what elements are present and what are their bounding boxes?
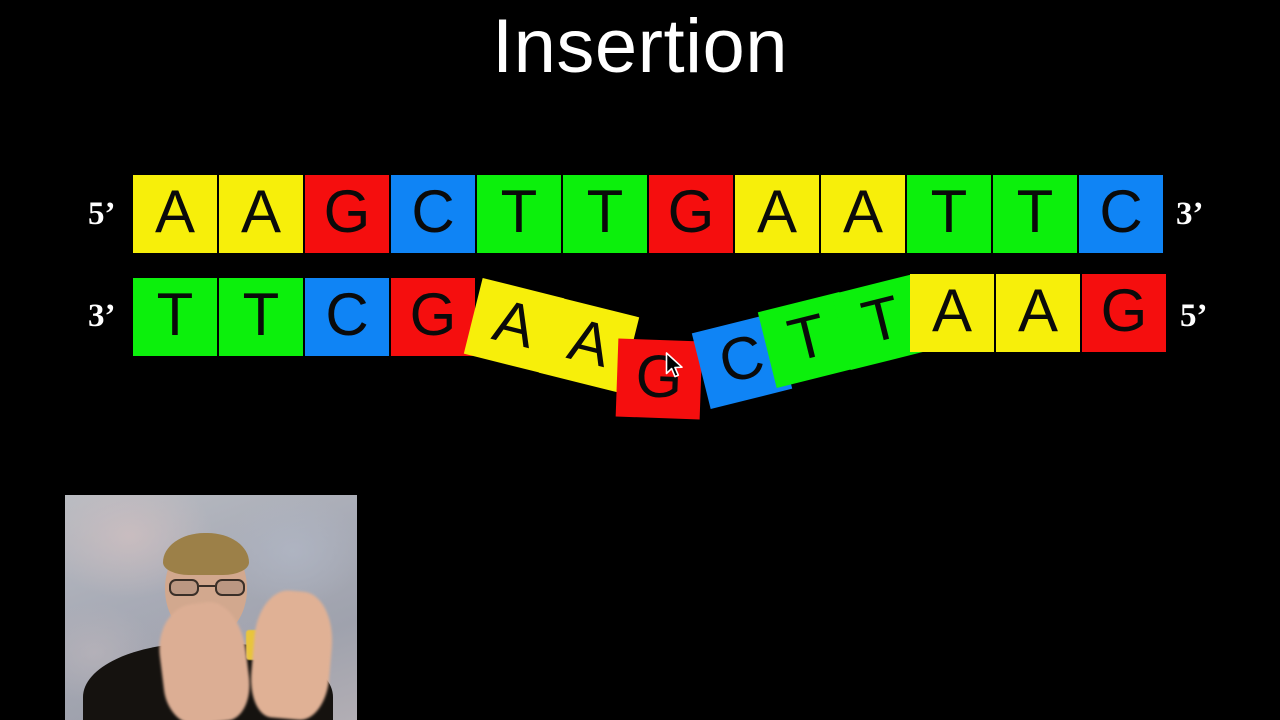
base-letter: A — [241, 182, 281, 242]
base-letter: T — [243, 285, 280, 345]
base-letter: A — [488, 290, 541, 358]
base-letter: G — [324, 182, 371, 242]
top-strand-three-prime-label: 3’ — [1176, 198, 1204, 231]
top-strand-base-0-a[interactable]: A — [133, 175, 217, 253]
base-letter: A — [155, 182, 195, 242]
base-letter: T — [587, 182, 624, 242]
base-letter: A — [843, 182, 883, 242]
top-strand-base-5-t[interactable]: T — [563, 175, 647, 253]
top-strand-base-3-c[interactable]: C — [391, 175, 475, 253]
base-letter: C — [713, 325, 770, 394]
base-letter: C — [325, 285, 368, 345]
glasses-right-lens — [215, 579, 245, 596]
base-letter: G — [635, 346, 684, 408]
base-letter: G — [410, 285, 457, 345]
glasses-bridge — [199, 585, 215, 587]
base-letter: T — [931, 182, 968, 242]
top-strand-base-10-t[interactable]: T — [993, 175, 1077, 253]
top-strand-base-2-g[interactable]: G — [305, 175, 389, 253]
presenter-video-inset[interactable] — [65, 495, 357, 720]
base-letter: A — [1018, 281, 1058, 341]
top-strand-base-4-t[interactable]: T — [477, 175, 561, 253]
glasses-left-lens — [169, 579, 199, 596]
base-letter: G — [668, 182, 715, 242]
base-letter: C — [1099, 182, 1142, 242]
base-letter: A — [757, 182, 797, 242]
presenter-glasses — [169, 579, 245, 596]
dna-diagram: 5’ 3’ 3’ 5’ AAGCTTGAATTC TTCGAAGCTTAAG — [0, 0, 1280, 470]
base-letter: C — [411, 182, 454, 242]
bottom-strand-base-2-c[interactable]: C — [305, 278, 389, 356]
top-strand-base-11-c[interactable]: C — [1079, 175, 1163, 253]
base-letter: T — [1017, 182, 1054, 242]
top-strand-base-6-g[interactable]: G — [649, 175, 733, 253]
bottom-strand-base-12-g[interactable]: G — [1082, 274, 1166, 352]
base-letter: A — [563, 309, 616, 377]
top-strand-base-9-t[interactable]: T — [907, 175, 991, 253]
base-letter: A — [932, 281, 972, 341]
bottom-strand-base-6-g[interactable]: G — [616, 339, 703, 420]
top-strand-base-7-a[interactable]: A — [735, 175, 819, 253]
base-letter: T — [501, 182, 538, 242]
base-letter: T — [157, 285, 194, 345]
bottom-strand-base-3-g[interactable]: G — [391, 278, 475, 356]
bottom-strand-base-11-a[interactable]: A — [996, 274, 1080, 352]
top-strand-base-8-a[interactable]: A — [821, 175, 905, 253]
base-letter: T — [782, 305, 832, 372]
base-letter: T — [856, 287, 906, 354]
bottom-strand-base-1-t[interactable]: T — [219, 278, 303, 356]
bottom-strand-base-0-t[interactable]: T — [133, 278, 217, 356]
bottom-strand-five-prime-label: 5’ — [1180, 300, 1208, 333]
bottom-strand-base-10-a[interactable]: A — [910, 274, 994, 352]
bottom-strand-three-prime-label: 3’ — [88, 300, 116, 333]
top-strand-base-1-a[interactable]: A — [219, 175, 303, 253]
base-letter: G — [1101, 281, 1148, 341]
top-strand-five-prime-label: 5’ — [88, 198, 116, 231]
